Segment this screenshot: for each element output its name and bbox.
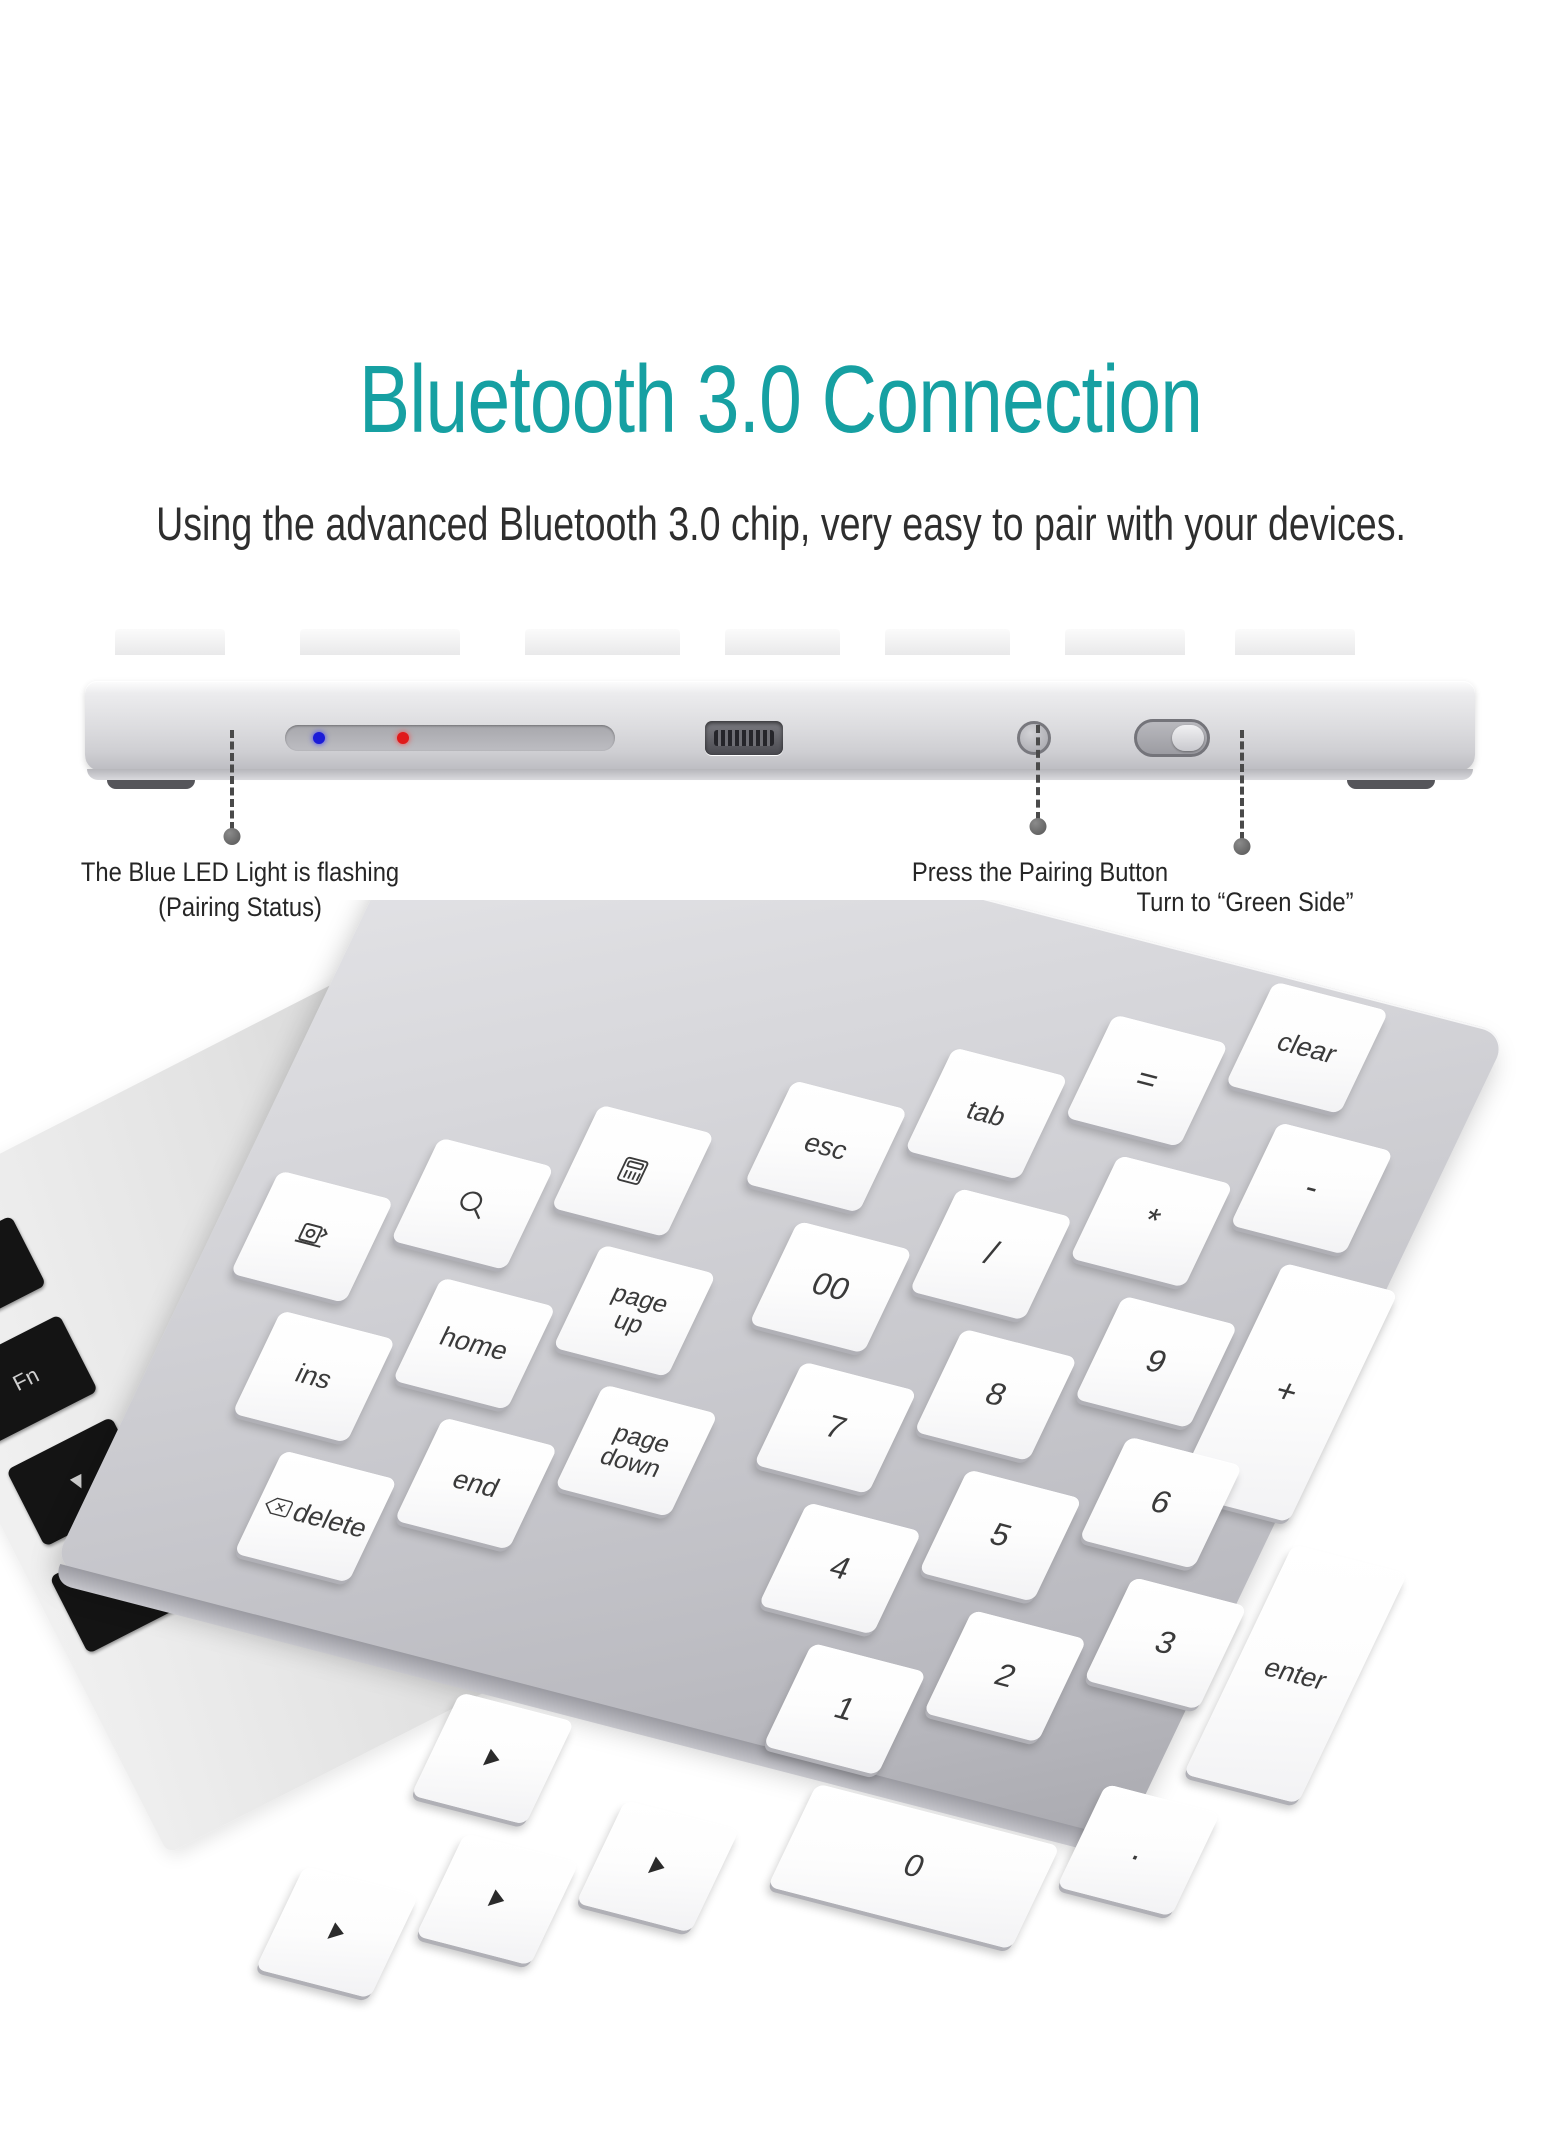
leader-dot-switch <box>1234 838 1251 855</box>
key-page-up-label: page up <box>596 1280 673 1342</box>
keypad-side-body <box>85 681 1475 771</box>
key-minus-label: - <box>1298 1171 1325 1207</box>
key-6-label: 6 <box>1145 1485 1177 1520</box>
key-enter-label: enter <box>1259 1653 1331 1694</box>
key-arrow-right[interactable] <box>576 1800 739 1933</box>
pairing-button[interactable] <box>1017 721 1051 755</box>
leader-line-led <box>230 730 234 830</box>
key-delete-label: delete <box>288 1498 372 1542</box>
keycap-stub <box>725 629 840 655</box>
key-divide-label: / <box>979 1237 1004 1272</box>
leader-line-switch <box>1240 730 1244 840</box>
red-led-icon <box>397 732 409 744</box>
leader-line-pairing <box>1036 725 1040 820</box>
keycap-stub <box>1235 629 1355 655</box>
key-ins-label: ins <box>291 1359 337 1394</box>
key-clear-label: clear <box>1272 1027 1341 1068</box>
arrow-icon <box>487 1889 507 1909</box>
key-7-label: 7 <box>819 1410 851 1445</box>
key-arrow-left[interactable] <box>416 1833 579 1966</box>
keycap-stub <box>300 629 460 655</box>
screenshot-icon <box>288 1217 336 1257</box>
keycap-stub <box>525 629 680 655</box>
page-subtitle: Using the advanced Bluetooth 3.0 chip, v… <box>156 500 1405 547</box>
key-2-label: 2 <box>989 1659 1021 1694</box>
key-equals-label: = <box>1129 1062 1164 1100</box>
product-photo-scene: Fn ▼ inshomepage updeleteendpage downesc… <box>0 900 1561 2138</box>
device-edge-photo <box>85 655 1475 800</box>
keycap-stub <box>1065 629 1185 655</box>
key-period-label: . <box>1126 1833 1151 1868</box>
leader-dot-led <box>224 828 241 845</box>
key-home-label: home <box>435 1322 513 1365</box>
leader-dot-pairing <box>1030 818 1047 835</box>
key-9-label: 9 <box>1140 1344 1172 1379</box>
key-tab-label: tab <box>962 1096 1011 1131</box>
rubber-foot <box>1347 775 1435 789</box>
led-indicator-strip <box>285 725 615 751</box>
key-multiply-label: * <box>1137 1203 1165 1239</box>
key-3-label: 3 <box>1149 1626 1181 1661</box>
micro-usb-port <box>705 721 783 755</box>
key-plus-label: + <box>1269 1374 1304 1412</box>
key-0-label: 0 <box>898 1849 930 1884</box>
laptop-fn-label: Fn <box>9 1362 44 1397</box>
delete-icon <box>261 1494 295 1519</box>
keycap-stub <box>885 629 1010 655</box>
key-8-label: 8 <box>980 1377 1012 1412</box>
calculator-icon <box>610 1152 655 1189</box>
key-page-down-label: page down <box>596 1419 677 1482</box>
search-icon <box>448 1184 496 1224</box>
key-4-label: 4 <box>824 1551 856 1586</box>
rubber-foot <box>107 775 195 789</box>
key-arrow-down[interactable] <box>255 1866 418 1999</box>
page-title: Bluetooth 3.0 Connection <box>156 352 1405 448</box>
keycap-stub <box>115 629 225 655</box>
power-slide-switch[interactable] <box>1134 719 1210 757</box>
arrow-icon <box>327 1922 347 1942</box>
arrow-icon <box>482 1749 502 1769</box>
key-5-label: 5 <box>984 1518 1016 1553</box>
key-end-label: end <box>448 1465 504 1502</box>
power-switch-knob[interactable] <box>1172 725 1204 751</box>
key-1-label: 1 <box>829 1691 861 1726</box>
key-esc-label: esc <box>799 1128 852 1165</box>
blue-led-icon <box>313 732 325 744</box>
key-double-zero-label: 00 <box>806 1267 855 1307</box>
arrow-icon <box>648 1856 668 1876</box>
